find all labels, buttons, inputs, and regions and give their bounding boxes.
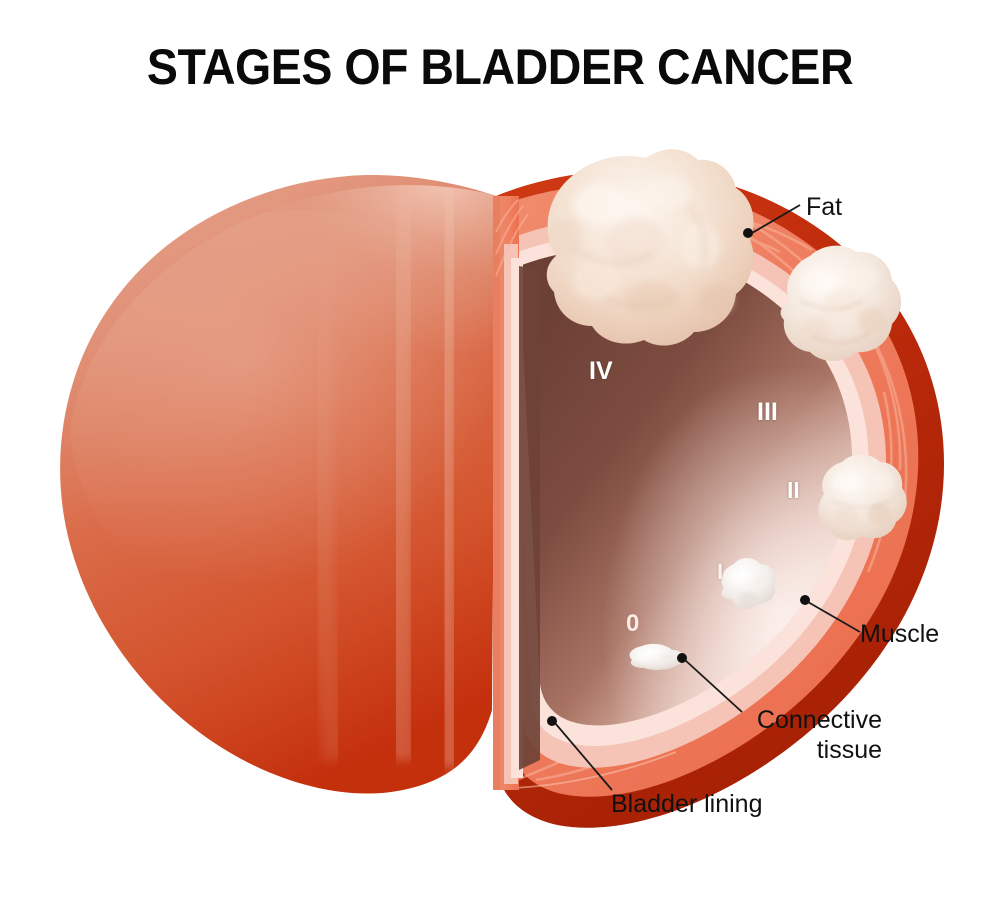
dot-muscle [800,595,810,605]
dot-fat [743,228,753,238]
callout-label-connective-tissue: Connective tissue [742,705,882,765]
dot-connective-tissue [677,653,687,663]
callout-label-bladder-lining: Bladder lining [611,790,763,819]
stage-label-ii: II [787,477,800,504]
tumor-stage-iv [547,149,754,345]
callout-label-connective-tissue-line2: tissue [817,736,882,764]
cut-edge-slab [493,196,540,790]
illustration-page: STAGES OF BLADDER CANCER [0,0,1000,897]
callout-label-connective-tissue-line1: Connective [757,706,882,734]
stage-label-iv: IV [589,357,613,386]
callout-label-fat: Fat [806,193,842,222]
dot-bladder-lining [547,716,557,726]
callout-label-muscle: Muscle [860,620,939,649]
stage-label-iii: III [757,398,778,427]
stage-label-0: 0 [626,610,639,638]
stage-label-i: I [717,559,723,585]
